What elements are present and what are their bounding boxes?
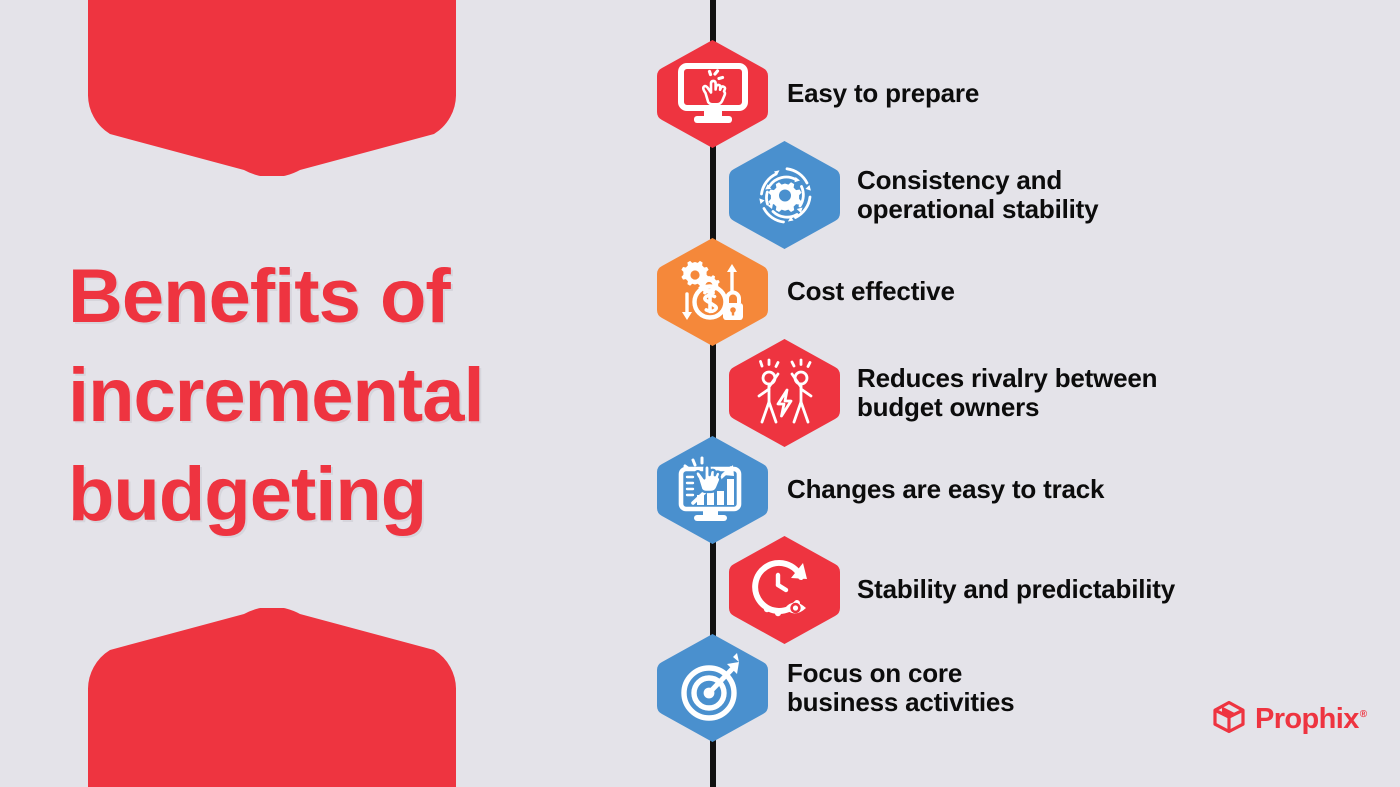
benefit-item-2[interactable]: Consistency and operational stability (727, 139, 1098, 251)
benefit-hexagon-4 (727, 337, 842, 449)
benefit-label-4: Reduces rivalry between budget owners (857, 364, 1157, 422)
decorative-shape-bottom (88, 608, 456, 787)
infographic-canvas: Benefits of incremental budgeting (0, 0, 1400, 787)
prophix-wordmark: Prophix® (1255, 705, 1367, 734)
benefit-item-5[interactable]: Changes are easy to track (655, 434, 1104, 546)
target-arrow-icon (655, 632, 770, 744)
benefit-hexagon-2 (727, 139, 842, 251)
benefit-hexagon-6 (727, 534, 842, 646)
headline-line-2: incremental (68, 347, 628, 446)
gear-cycle-icon (727, 139, 842, 251)
rivalry-people-icon (727, 337, 842, 449)
headline-line-3: budgeting (68, 446, 628, 545)
benefit-item-6[interactable]: Stability and predictability (727, 534, 1175, 646)
benefit-hexagon-3 (655, 236, 770, 348)
benefit-item-1[interactable]: Easy to prepare (655, 38, 979, 150)
clock-eye-icon (727, 534, 842, 646)
benefit-hexagon-7 (655, 632, 770, 744)
cost-lock-icon (655, 236, 770, 348)
page-title: Benefits of incremental budgeting (68, 248, 628, 544)
benefit-hexagon-1 (655, 38, 770, 150)
benefit-label-3: Cost effective (787, 277, 955, 306)
registered-trademark-symbol: ® (1360, 709, 1367, 720)
benefit-item-3[interactable]: Cost effective (655, 236, 955, 348)
benefit-item-7[interactable]: Focus on core business activities (655, 632, 1014, 744)
benefit-label-2: Consistency and operational stability (857, 166, 1098, 224)
benefit-item-4[interactable]: Reduces rivalry between budget owners (727, 337, 1157, 449)
prophix-logo[interactable]: Prophix® (1212, 700, 1367, 739)
prophix-cube-icon (1212, 700, 1246, 739)
monitor-click-icon (655, 38, 770, 150)
headline-line-1: Benefits of (68, 248, 628, 347)
chart-monitor-click-icon (655, 434, 770, 546)
benefit-hexagon-5 (655, 434, 770, 546)
benefit-label-7: Focus on core business activities (787, 659, 1014, 717)
decorative-shape-top (88, 0, 456, 176)
benefit-label-5: Changes are easy to track (787, 475, 1104, 504)
benefit-label-1: Easy to prepare (787, 79, 979, 108)
prophix-wordmark-text: Prophix (1255, 703, 1359, 735)
benefit-label-6: Stability and predictability (857, 575, 1175, 604)
